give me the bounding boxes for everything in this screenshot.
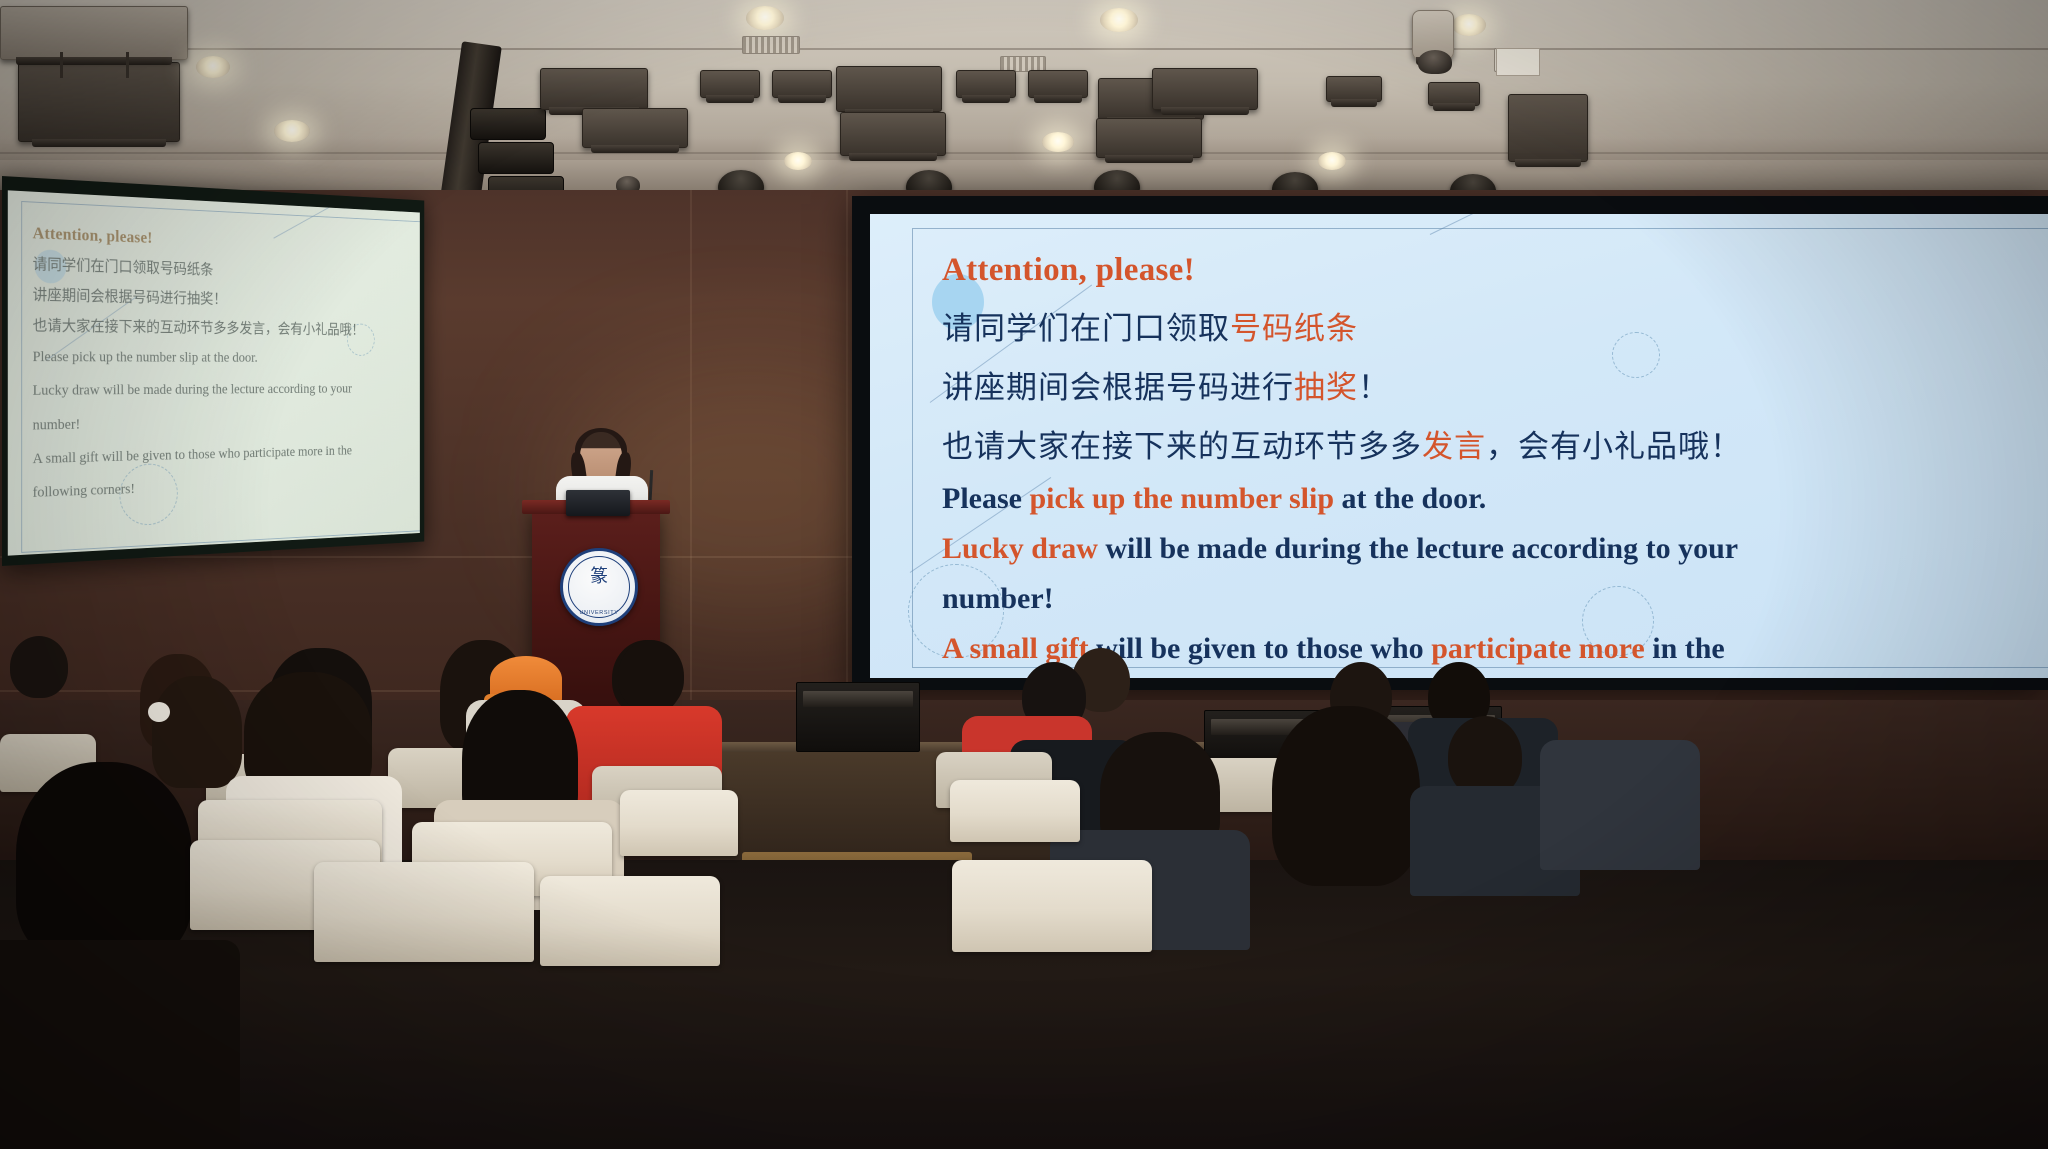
slide-line-en-1: Please pick up the number slip at the do… [942,482,2048,516]
slide-title: Attention, please! [942,252,2048,289]
seat [620,790,738,856]
stage-projector [1428,82,1480,106]
stage-projector [540,68,648,110]
ceiling-seam [0,152,2048,154]
slide-seg-highlight: Lucky draw [942,532,1098,565]
slide-line-en-3: number! [942,582,2048,616]
slide-line-cn-1: 请同学们在门口领取号码纸条 [942,303,2048,348]
audience-torso [0,940,240,1149]
secondary-slide-line-7: A small gift will be given to those who … [33,438,413,471]
main-projection-screen: Attention, please! 请同学们在门口领取号码纸条 讲座期间会根据… [852,196,2048,690]
emblem-glyph: 篆 [563,567,635,585]
stage-projector [840,112,946,156]
truss-lamp [470,108,546,140]
ceiling-vent [742,36,800,54]
stage-projector [700,70,760,98]
secondary-slide-line-8: following corners! [33,469,413,506]
emblem-arc-text: UNIVERSITY [563,610,635,616]
slide-seg: ，会有小礼品哦！ [1486,429,1742,464]
stage-projector [1152,68,1258,110]
stage-projector [1326,76,1382,102]
main-slide-content: Attention, please! 请同学们在门口领取号码纸条 讲座期间会根据… [942,252,2048,678]
dome-camera-icon [1418,50,1452,74]
seat [952,860,1152,952]
audience-head [618,640,684,712]
slide-seg: will be made during the lecture accordin… [1098,532,1738,565]
av-rack-face [803,691,913,707]
slide-seg: Please [942,482,1029,515]
stage-projector [836,66,942,112]
secondary-slide-line-3: 也请大家在接下来的互动环节多多发言，会有小礼品哦！ [33,314,413,340]
downlight [746,6,784,30]
stage-projector [1028,70,1088,98]
slide-line-en-2: Lucky draw will be made during the lectu… [942,532,2048,566]
hair-clip [148,702,170,722]
secondary-slide-line-5: Lucky draw will be made during the lectu… [33,378,413,403]
audience-head [152,676,242,788]
slide-seg: at the door. [1334,482,1486,515]
projector-rod [126,52,129,78]
secondary-slide-line-6: number! [33,408,413,437]
slide-seg-highlight: pick up the number slip [1029,482,1334,515]
slide-seg: ！ [1358,370,1390,405]
slide-seg-highlight: 抽奖 [1294,370,1358,405]
downlight [1318,152,1346,170]
downlight [1042,132,1074,152]
slide-seg-highlight: 号码纸条 [1230,311,1358,346]
lecture-hall-photo: Attention, please! 请同学们在门口领取号码纸条 讲座期间会根据… [0,0,2048,1149]
audience-head-foreground [16,762,192,962]
stage-projector [582,108,688,148]
ceiling-duct [0,6,188,60]
slide-line-cn-2: 讲座期间会根据号码进行抽奖！ [942,362,2048,407]
stage-projector [772,70,832,98]
secondary-screen-surface: Attention, please! 请同学们在门口领取号码纸条 讲座期间会根据… [8,190,420,555]
stage-projector [956,70,1016,98]
slide-seg-highlight: 发言 [1422,429,1486,464]
slide-seg: in the [1645,632,1725,665]
downlight [196,56,230,78]
slide-seg-highlight: participate more [1431,632,1645,665]
downlight [784,152,812,170]
audience-head-braids [1272,706,1420,886]
audience-torso [1540,740,1700,870]
slide-seg: 请同学们在门口领取 [942,311,1230,346]
slide-seg: 也请大家在接下来的互动环节多多 [942,429,1422,464]
slide-line-cn-3: 也请大家在接下来的互动环节多多发言，会有小礼品哦！ [942,421,2048,466]
downlight [274,120,310,142]
secondary-slide-line-2: 讲座期间会根据号码进行抽奖！ [33,283,413,312]
stage-projector [1096,118,1202,158]
secondary-slide-content: Attention, please! 请同学们在门口领取号码纸条 讲座期间会根据… [33,223,413,540]
ceiling-panel [1496,48,1540,76]
projector-rod [60,52,63,78]
slide-seg: number! [942,582,1054,615]
seat [540,876,720,966]
truss-lamp [478,142,554,174]
stage-projector [1508,94,1588,162]
slide-seg-highlight: A small gift [942,632,1089,665]
slide-seg: 讲座期间会根据号码进行 [942,370,1294,405]
secondary-projection-screen: Attention, please! 请同学们在门口领取号码纸条 讲座期间会根据… [2,176,424,566]
audience-head [10,636,68,698]
downlight [1100,8,1138,32]
main-screen-surface: Attention, please! 请同学们在门口领取号码纸条 讲座期间会根据… [870,214,2048,678]
university-emblem: 篆 UNIVERSITY [560,548,638,626]
seat [950,780,1080,842]
ceiling-seam [0,48,2048,50]
ceiling-projector-mount [18,62,180,142]
laptop [566,490,630,516]
secondary-slide-line-4: Please pick up the number slip at the do… [33,345,413,369]
seat [314,862,534,962]
wall-panel-seam [0,690,860,692]
av-rack [796,682,920,752]
secondary-slide-line-1: 请同学们在门口领取号码纸条 [33,252,413,285]
slide-seg: will be given to those who [1089,632,1432,665]
downlight [1452,14,1486,36]
